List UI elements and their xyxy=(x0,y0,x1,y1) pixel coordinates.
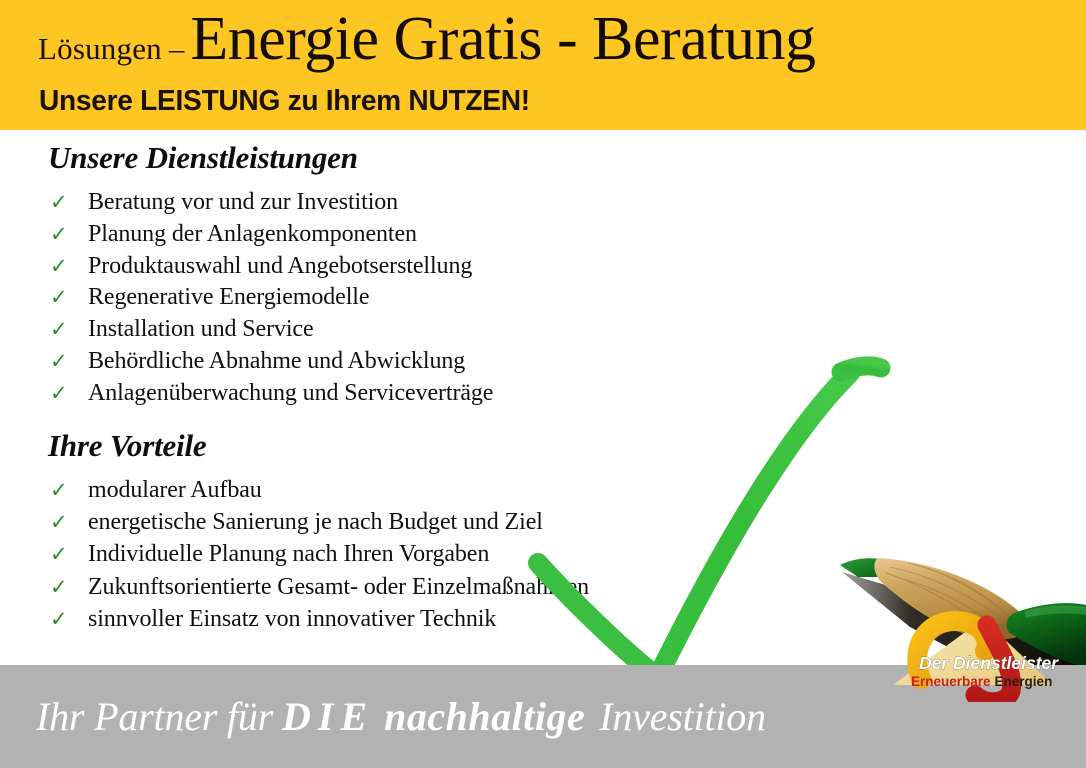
check-icon: ✓ xyxy=(46,192,88,213)
services-heading: Unsere Dienstleistungen xyxy=(48,140,358,176)
tagline-emphasis-word: nachhaltige xyxy=(384,694,585,739)
list-item-label: Individuelle Planung nach Ihren Vorgaben xyxy=(88,542,489,566)
list-item-label: Regenerative Energiemodelle xyxy=(88,285,369,309)
list-item-label: Anlagenüberwachung und Serviceverträge xyxy=(88,381,493,405)
list-item: ✓ modularer Aufbau xyxy=(46,478,589,510)
page-title: Energie Gratis - Beratung xyxy=(190,8,815,70)
list-item-label: Planung der Anlagenkomponenten xyxy=(88,222,417,246)
list-item-label: energetische Sanierung je nach Budget un… xyxy=(88,510,543,534)
main-content: Unsere Dienstleistungen ✓ Beratung vor u… xyxy=(0,130,1086,665)
logo-line1: Der Dienstleister xyxy=(919,653,1059,673)
check-icon: ✓ xyxy=(46,577,88,598)
check-icon: ✓ xyxy=(46,544,88,565)
services-list: ✓ Beratung vor und zur Investition ✓ Pla… xyxy=(46,190,493,413)
list-item: ✓ sinnvoller Einsatz von innovativer Tec… xyxy=(46,607,589,639)
check-icon: ✓ xyxy=(46,224,88,245)
check-icon: ✓ xyxy=(46,512,88,533)
check-icon: ✓ xyxy=(46,319,88,340)
check-icon: ✓ xyxy=(46,480,88,501)
list-item: ✓ energetische Sanierung je nach Budget … xyxy=(46,510,589,542)
benefits-heading: Ihre Vorteile xyxy=(48,428,206,464)
tagline-emphasis-spaced: DIE xyxy=(282,694,384,739)
header-prefix: Lösungen xyxy=(38,31,162,67)
check-icon: ✓ xyxy=(46,383,88,404)
list-item-label: Beratung vor und zur Investition xyxy=(88,190,398,214)
header-dash: – xyxy=(162,31,191,67)
list-item: ✓ Individuelle Planung nach Ihren Vorgab… xyxy=(46,542,589,574)
tagline-part3: Investition xyxy=(587,693,766,740)
list-item-label: modularer Aufbau xyxy=(88,478,262,502)
company-logo: Der Dienstleister ErneuerbareEnergien xyxy=(875,607,1075,702)
list-item: ✓ Planung der Anlagenkomponenten xyxy=(46,222,493,254)
list-item-label: Behördliche Abnahme und Abwicklung xyxy=(88,349,465,373)
benefits-list: ✓ modularer Aufbau ✓ energetische Sanier… xyxy=(46,478,589,639)
list-item-label: Installation und Service xyxy=(88,317,314,341)
check-icon: ✓ xyxy=(46,609,88,630)
header-band: Lösungen – Energie Gratis - Beratung Uns… xyxy=(0,0,1086,130)
check-icon: ✓ xyxy=(46,256,88,277)
list-item: ✓ Anlagenüberwachung und Serviceverträge xyxy=(46,381,493,413)
check-icon: ✓ xyxy=(46,351,88,372)
list-item: ✓ Zukunftsorientierte Gesamt- oder Einze… xyxy=(46,575,589,607)
tagline-emphasis: DIEnachhaltige xyxy=(273,693,587,740)
header-subtitle: Unsere LEISTUNG zu Ihrem NUTZEN! xyxy=(39,86,530,116)
list-item-label: sinnvoller Einsatz von innovativer Techn… xyxy=(88,607,496,631)
footer-tagline: Ihr Partner für DIEnachhaltige Investiti… xyxy=(36,693,766,740)
header-title-row: Lösungen – Energie Gratis - Beratung xyxy=(38,8,815,70)
list-item: ✓ Beratung vor und zur Investition xyxy=(46,190,493,222)
list-item: ✓ Produktauswahl und Angebotserstellung xyxy=(46,254,493,286)
list-item: ✓ Regenerative Energiemodelle xyxy=(46,285,493,317)
tagline-part1: Ihr Partner für xyxy=(36,693,273,740)
flyer-slide: Lösungen – Energie Gratis - Beratung Uns… xyxy=(0,0,1086,768)
logo-line2: ErneuerbareEnergien xyxy=(911,674,1052,689)
list-item-label: Zukunftsorientierte Gesamt- oder Einzelm… xyxy=(88,575,589,599)
list-item: ✓ Behördliche Abnahme und Abwicklung xyxy=(46,349,493,381)
list-item-label: Produktauswahl und Angebotserstellung xyxy=(88,254,472,278)
check-icon: ✓ xyxy=(46,287,88,308)
list-item: ✓ Installation und Service xyxy=(46,317,493,349)
